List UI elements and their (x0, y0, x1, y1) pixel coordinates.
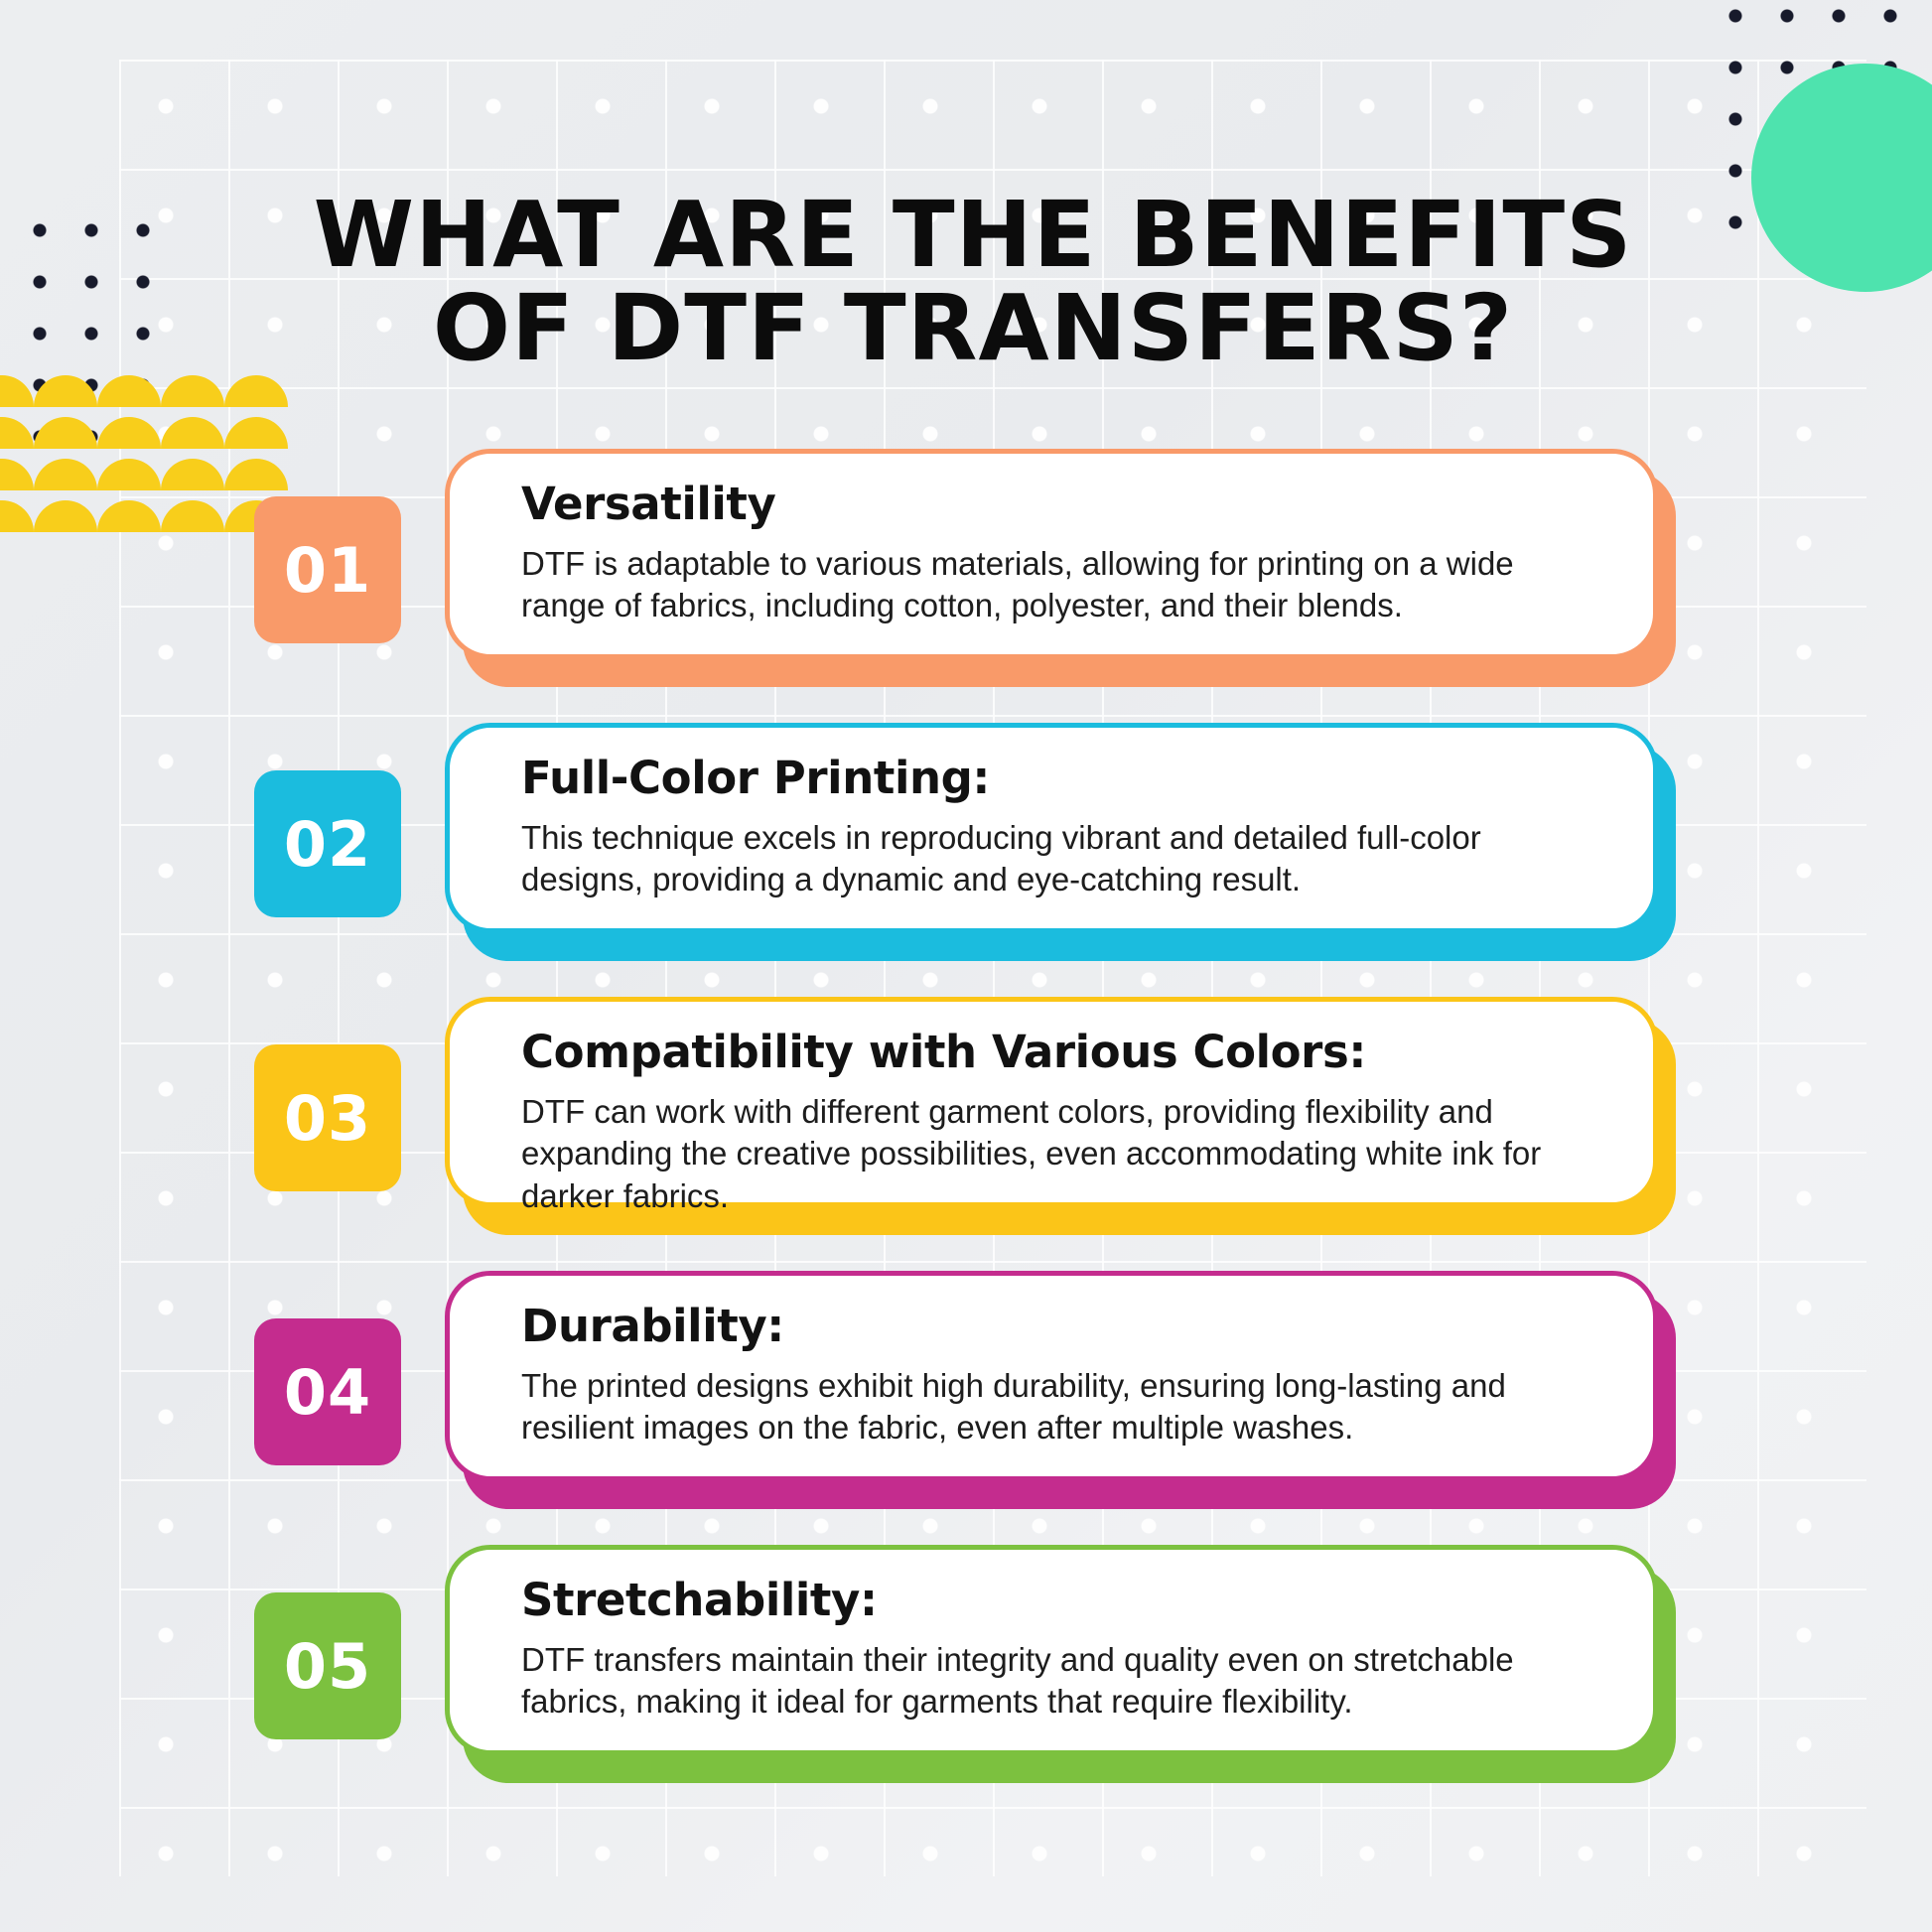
benefit-row: 03Compatibility with Various Colors:DTF … (0, 997, 1932, 1271)
semicircle-shape (0, 417, 34, 449)
benefit-row: 04Durability:The printed designs exhibit… (0, 1271, 1932, 1545)
benefit-heading: Full-Color Printing: (521, 754, 1607, 803)
benefit-description: This technique excels in reproducing vib… (521, 817, 1603, 902)
semicircle-shape (97, 375, 161, 407)
benefit-number-badge: 05 (254, 1592, 401, 1739)
benefit-card: Compatibility with Various Colors:DTF ca… (445, 997, 1658, 1207)
benefit-card: Stretchability:DTF transfers maintain th… (445, 1545, 1658, 1755)
benefit-card: VersatilityDTF is adaptable to various m… (445, 449, 1658, 659)
benefit-description: DTF is adaptable to various materials, a… (521, 543, 1603, 628)
benefit-card-wrapper: Durability:The printed designs exhibit h… (445, 1271, 1676, 1505)
benefit-description: DTF can work with different garment colo… (521, 1091, 1603, 1219)
semicircle-shape (34, 417, 97, 449)
benefit-heading: Stretchability: (521, 1576, 1607, 1625)
benefit-card: Full-Color Printing:This technique excel… (445, 723, 1658, 933)
semicircle-shape (0, 375, 34, 407)
benefit-number-badge: 01 (254, 496, 401, 643)
benefit-card-wrapper: VersatilityDTF is adaptable to various m… (445, 449, 1676, 683)
benefit-card-wrapper: Stretchability:DTF transfers maintain th… (445, 1545, 1676, 1779)
semicircle-shape (34, 375, 97, 407)
benefit-number-badge: 02 (254, 770, 401, 917)
semicircle-shape (97, 417, 161, 449)
benefit-card-wrapper: Full-Color Printing:This technique excel… (445, 723, 1676, 957)
benefit-number-badge: 03 (254, 1044, 401, 1191)
benefit-row: 05Stretchability:DTF transfers maintain … (0, 1545, 1932, 1819)
benefit-description: DTF transfers maintain their integrity a… (521, 1639, 1603, 1725)
benefits-list: 01VersatilityDTF is adaptable to various… (0, 449, 1932, 1819)
benefit-heading: Durability: (521, 1302, 1607, 1351)
benefit-number-badge: 04 (254, 1318, 401, 1465)
page-title: WHAT ARE THE BENEFITS OF DTF TRANSFERS? (248, 189, 1698, 375)
benefit-description: The printed designs exhibit high durabil… (521, 1365, 1603, 1450)
benefit-row: 02Full-Color Printing:This technique exc… (0, 723, 1932, 997)
benefit-card: Durability:The printed designs exhibit h… (445, 1271, 1658, 1481)
benefit-heading: Versatility (521, 480, 1607, 529)
benefit-heading: Compatibility with Various Colors: (521, 1028, 1607, 1077)
benefit-row: 01VersatilityDTF is adaptable to various… (0, 449, 1932, 723)
infographic-poster: WHAT ARE THE BENEFITS OF DTF TRANSFERS? … (0, 0, 1932, 1932)
benefit-card-wrapper: Compatibility with Various Colors:DTF ca… (445, 997, 1676, 1231)
